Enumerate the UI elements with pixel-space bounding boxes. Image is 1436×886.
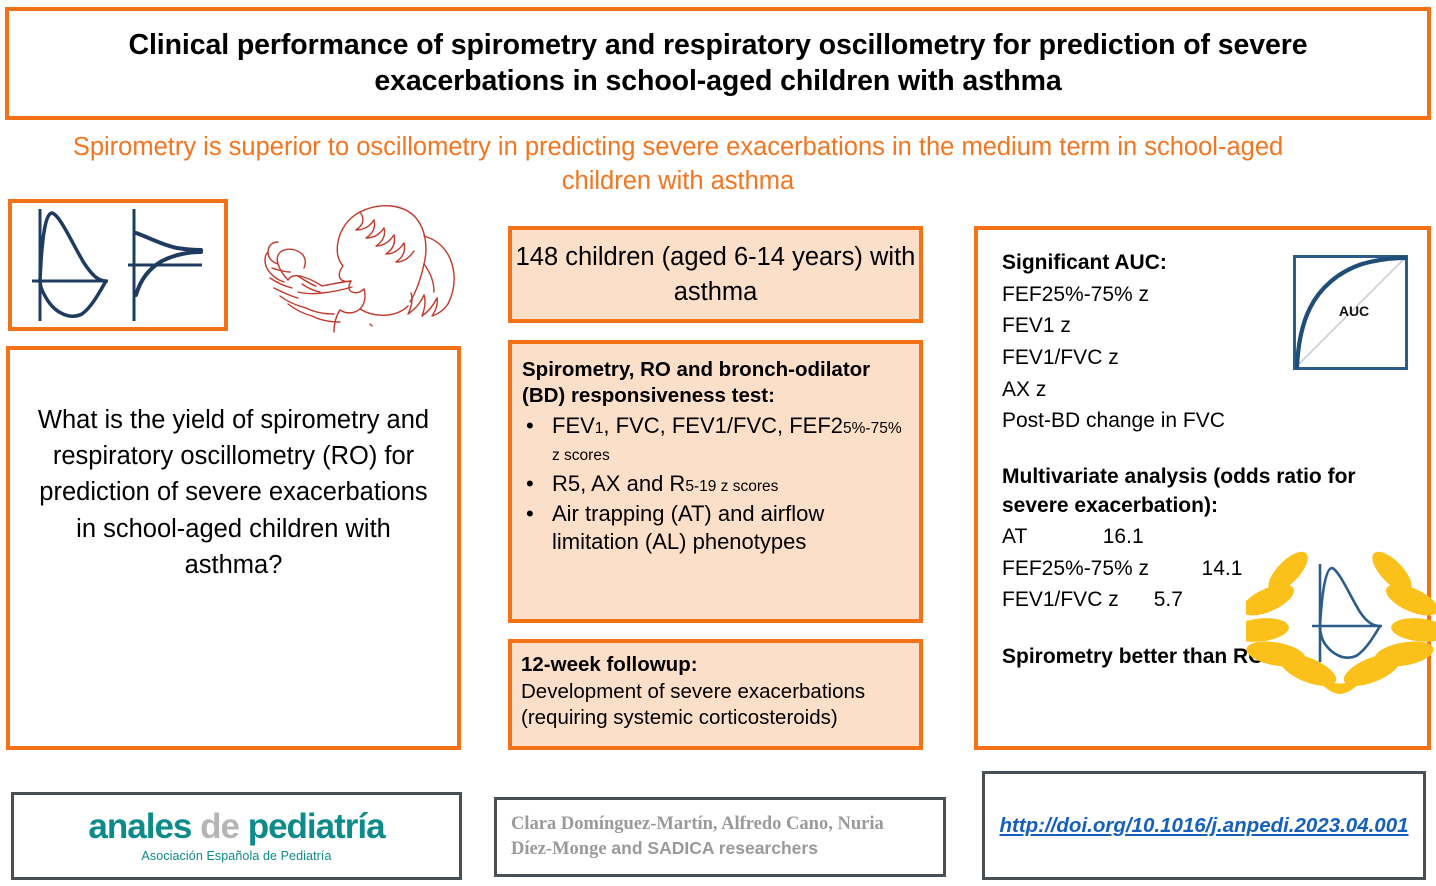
roc-curve-auc-inset: AUC <box>1292 254 1409 371</box>
spirometry-oscillometry-graphic-box <box>8 199 228 331</box>
cohort-text: 148 children (aged 6-14 years) with asth… <box>512 240 919 308</box>
followup-box: 12-week followup: Development of severe … <box>508 639 923 750</box>
page-title: Clinical performance of spirometry and r… <box>9 28 1427 100</box>
journal-logo-box: anales de pediatría Asociación Española … <box>11 792 462 880</box>
methods-box: Spirometry, RO and bronch-odilator (BD) … <box>508 340 923 623</box>
auc-item: AX z <box>1002 374 1427 406</box>
methods-bullet-2: R5, AX and R5-19 z scores <box>552 470 909 498</box>
bullet-marker: • <box>522 500 552 555</box>
bullet-marker: • <box>522 412 552 467</box>
list-item: • FEV1, FVC, FEV1/FVC, FEF25%-75% z scor… <box>522 412 909 467</box>
auc-item: Post-BD change in FVC <box>1002 405 1427 437</box>
research-question-text: What is the yield of spirometry and resp… <box>10 350 457 583</box>
methods-bullet-3: Air trapping (AT) and airflow limitation… <box>552 500 909 555</box>
journal-word-de: de <box>200 807 239 846</box>
methods-heading: Spirometry, RO and bronch-odilator (BD) … <box>522 357 909 409</box>
spacer <box>1002 437 1427 463</box>
doi-link[interactable]: http://doi.org/10.1016/j.anpedi.2023.04.… <box>999 814 1408 838</box>
list-item: • Air trapping (AT) and airflow limitati… <box>522 500 909 555</box>
research-question-box: What is the yield of spirometry and resp… <box>6 346 461 750</box>
journal-word-anales: anales <box>88 807 191 846</box>
girl-performing-spirometry-illustration <box>248 196 470 336</box>
spirometry-oscillometry-curves <box>12 203 224 327</box>
title-box: Clinical performance of spirometry and r… <box>5 7 1431 120</box>
roc-auc-label: AUC <box>1339 303 1369 319</box>
followup-heading: 12-week followup: <box>521 652 911 679</box>
authors-box: Clara Domínguez-Martín, Alfredo Cano, Nu… <box>494 797 946 877</box>
journal-wordmark: anales de pediatría <box>88 809 384 844</box>
followup-body: Development of severe exacerbations (req… <box>521 679 911 731</box>
methods-bullet-1: FEV1, FVC, FEV1/FVC, FEF25%-75% z scores <box>552 412 909 467</box>
doi-box: http://doi.org/10.1016/j.anpedi.2023.04.… <box>982 771 1426 880</box>
laurel-wreath-award-icon <box>1246 546 1436 696</box>
authors-text: Clara Domínguez-Martín, Alfredo Cano, Nu… <box>497 812 943 861</box>
journal-subtitle: Asociación Española de Pediatría <box>88 849 384 863</box>
journal-logo: anales de pediatría Asociación Española … <box>88 809 384 863</box>
author-group: and SADICA researchers <box>611 838 818 858</box>
cohort-box: 148 children (aged 6-14 years) with asth… <box>508 226 923 323</box>
subtitle-highlight: Spirometry is superior to oscillometry i… <box>48 131 1308 198</box>
list-item: • R5, AX and R5-19 z scores <box>522 470 909 498</box>
multivariate-heading: Multivariate analysis (odds ratio for se… <box>1002 463 1427 521</box>
bullet-marker: • <box>522 470 552 498</box>
journal-word-pediatria: pediatría <box>248 807 385 846</box>
